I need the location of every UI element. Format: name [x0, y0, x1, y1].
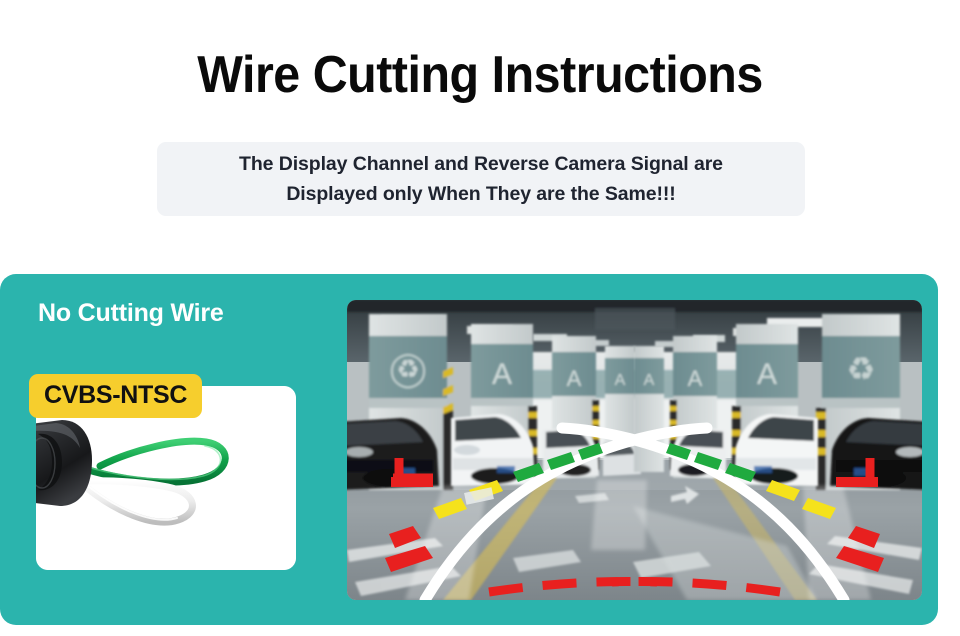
notice-line-1: The Display Channel and Reverse Camera S… — [239, 149, 723, 179]
camera-preview-photo: ◯ ♻ A — [347, 300, 922, 600]
parking-garage-scene: ◯ ♻ A — [347, 300, 922, 600]
page-title: Wire Cutting Instructions — [34, 44, 927, 106]
svg-text:A: A — [615, 372, 626, 389]
svg-text:♻: ♻ — [847, 351, 876, 387]
svg-text:A: A — [644, 372, 655, 389]
svg-text:A: A — [492, 358, 512, 391]
svg-text:A: A — [567, 366, 582, 391]
notice-box: The Display Channel and Reverse Camera S… — [157, 142, 805, 216]
notice-line-2: Displayed only When They are the Same!!! — [286, 179, 675, 209]
svg-text:♻: ♻ — [396, 354, 419, 384]
page-root: Wire Cutting Instructions The Display Ch… — [0, 0, 960, 636]
svg-text:A: A — [757, 358, 777, 391]
cvbs-ntsc-badge: CVBS-NTSC — [29, 374, 202, 418]
panel-heading: No Cutting Wire — [38, 299, 224, 328]
svg-text:A: A — [688, 366, 703, 391]
